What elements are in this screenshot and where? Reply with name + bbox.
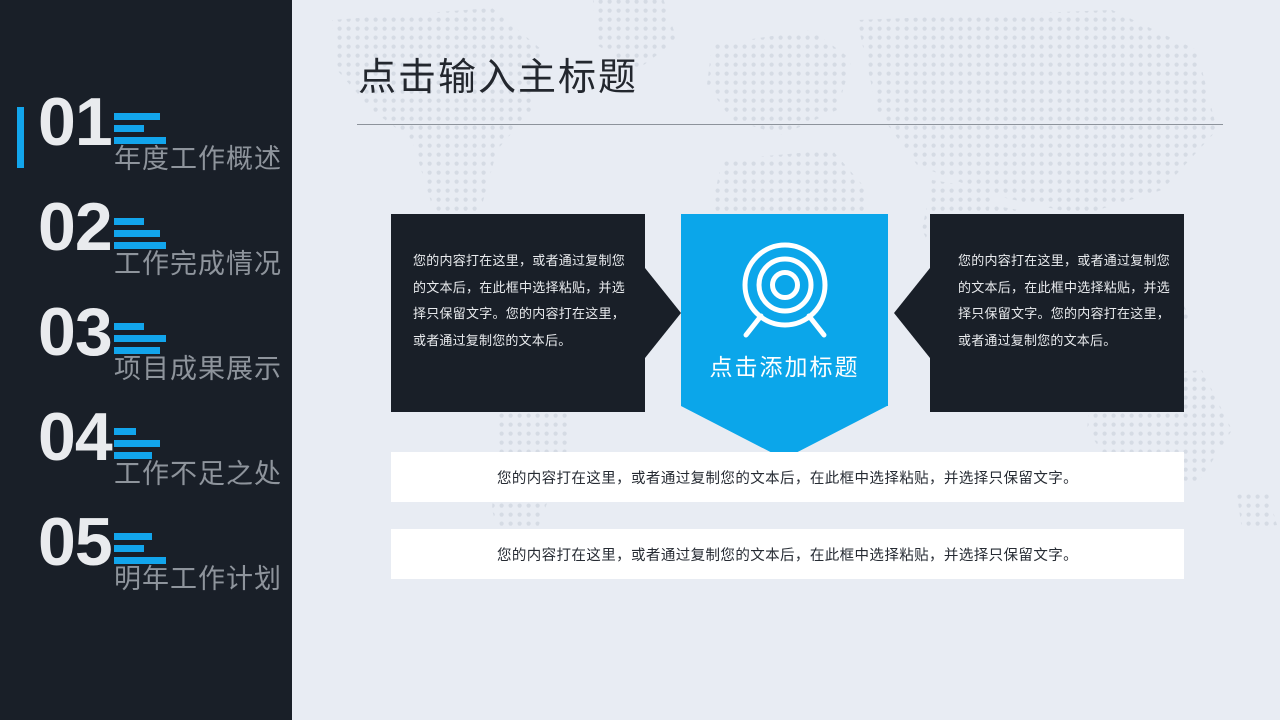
sidebar: 01 年度工作概述 02 工作完成情况 03 项目 <box>0 0 292 720</box>
right-text-box-body: 您的内容打在这里，或者通过复制您的文本后，在此框中选择粘贴，并选择只保留文字。您… <box>958 248 1170 355</box>
title-divider <box>357 124 1223 125</box>
center-highlight-panel[interactable]: 点击添加标题 <box>681 214 888 406</box>
left-text-box[interactable]: 您的内容打在这里，或者通过复制您的文本后，在此框中选择粘贴，并选择只保留文字。您… <box>391 214 645 412</box>
sidebar-item-number: 02 <box>38 193 112 261</box>
slide-canvas: 01 年度工作概述 02 工作完成情况 03 项目 <box>0 0 1280 720</box>
bottom-bar-2-text: 您的内容打在这里，或者通过复制您的文本后，在此框中选择粘贴，并选择只保留文字。 <box>497 544 1078 565</box>
target-gong-icon <box>731 238 839 347</box>
sidebar-item-number: 01 <box>38 88 112 156</box>
bottom-bar-1-text: 您的内容打在这里，或者通过复制您的文本后，在此框中选择粘贴，并选择只保留文字。 <box>497 467 1078 488</box>
center-panel-label: 点击添加标题 <box>681 348 888 382</box>
sidebar-item-number: 05 <box>38 508 112 576</box>
active-indicator-bar <box>17 107 24 168</box>
sidebar-item-label: 项目成果展示 <box>114 347 282 386</box>
left-box-arrow-tip-icon <box>645 268 681 358</box>
left-text-box-body: 您的内容打在这里，或者通过复制您的文本后，在此框中选择粘贴，并选择只保留文字。您… <box>413 248 625 355</box>
sidebar-item-label: 工作完成情况 <box>114 242 282 281</box>
sidebar-item-label: 明年工作计划 <box>114 557 282 596</box>
sidebar-nav-list: 01 年度工作概述 02 工作完成情况 03 项目 <box>0 101 292 626</box>
sidebar-item-number: 04 <box>38 403 112 471</box>
bottom-bar-1[interactable]: 您的内容打在这里，或者通过复制您的文本后，在此框中选择粘贴，并选择只保留文字。 <box>391 452 1184 502</box>
sidebar-item-label: 工作不足之处 <box>114 452 282 491</box>
sidebar-item-label: 年度工作概述 <box>114 137 282 176</box>
page-title: 点击输入主标题 <box>358 46 638 101</box>
bottom-bar-2[interactable]: 您的内容打在这里，或者通过复制您的文本后，在此框中选择粘贴，并选择只保留文字。 <box>391 529 1184 579</box>
sidebar-item-number: 03 <box>38 298 112 366</box>
sidebar-item-5[interactable]: 05 明年工作计划 <box>0 521 292 626</box>
right-text-box[interactable]: 您的内容打在这里，或者通过复制您的文本后，在此框中选择粘贴，并选择只保留文字。您… <box>930 214 1184 412</box>
right-box-arrow-tip-icon <box>894 268 930 358</box>
